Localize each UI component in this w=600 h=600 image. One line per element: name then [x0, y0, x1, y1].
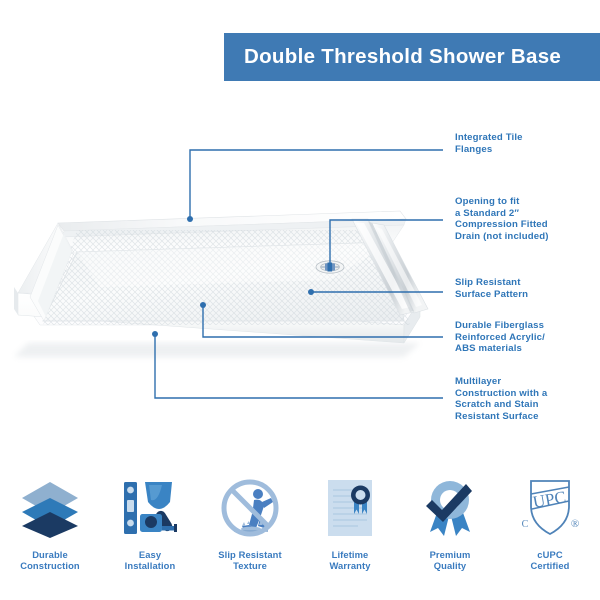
level-trowel-tape-icon [118, 476, 182, 540]
feature-label: Easy Installation [125, 549, 176, 572]
no-slipping-person-icon [218, 476, 282, 540]
feature-premium-quality: Premium Quality [400, 462, 500, 600]
upc-text: UPC [531, 487, 567, 511]
feature-cupc-certified: UPC C ® cUPC Certified [500, 462, 600, 600]
upc-c-text: C [522, 519, 529, 530]
title-banner: Double Threshold Shower Base [224, 33, 600, 81]
certificate-seal-icon [318, 476, 382, 540]
product-shadow [14, 343, 420, 357]
infographic-page: Double Threshold Shower Base [0, 0, 600, 600]
upc-registered-text: ® [571, 518, 579, 530]
callout-multilayer-construction: Multilayer Construction with a Scratch a… [455, 376, 547, 422]
rosette-checkmark-icon [418, 476, 482, 540]
drain-opening [316, 261, 344, 273]
feature-label: Premium Quality [430, 549, 471, 572]
shower-base-illustration [0, 175, 460, 390]
feature-label: Durable Construction [20, 549, 80, 572]
feature-lifetime-warranty: Lifetime Warranty [300, 462, 400, 600]
callout-drain-opening: Opening to fit a Standard 2″ Compression… [455, 196, 549, 242]
feature-slip-resistant-texture: Slip Resistant Texture [200, 462, 300, 600]
feature-durable-construction: Durable Construction [0, 462, 100, 600]
feature-label: Slip Resistant Texture [218, 549, 281, 572]
feature-label: Lifetime Warranty [329, 549, 370, 572]
layers-stack-icon [18, 476, 82, 540]
feature-strip: Durable Construction [0, 462, 600, 600]
feature-label: cUPC Certified [531, 549, 570, 572]
upc-shield-icon: UPC C ® [518, 476, 582, 540]
page-title: Double Threshold Shower Base [224, 45, 561, 69]
callout-integrated-tile-flanges: Integrated Tile Flanges [455, 132, 523, 155]
callout-slip-resistant-surface: Slip Resistant Surface Pattern [455, 277, 528, 300]
callout-durable-fiberglass: Durable Fiberglass Reinforced Acrylic/ A… [455, 320, 545, 355]
feature-easy-installation: Easy Installation [100, 462, 200, 600]
